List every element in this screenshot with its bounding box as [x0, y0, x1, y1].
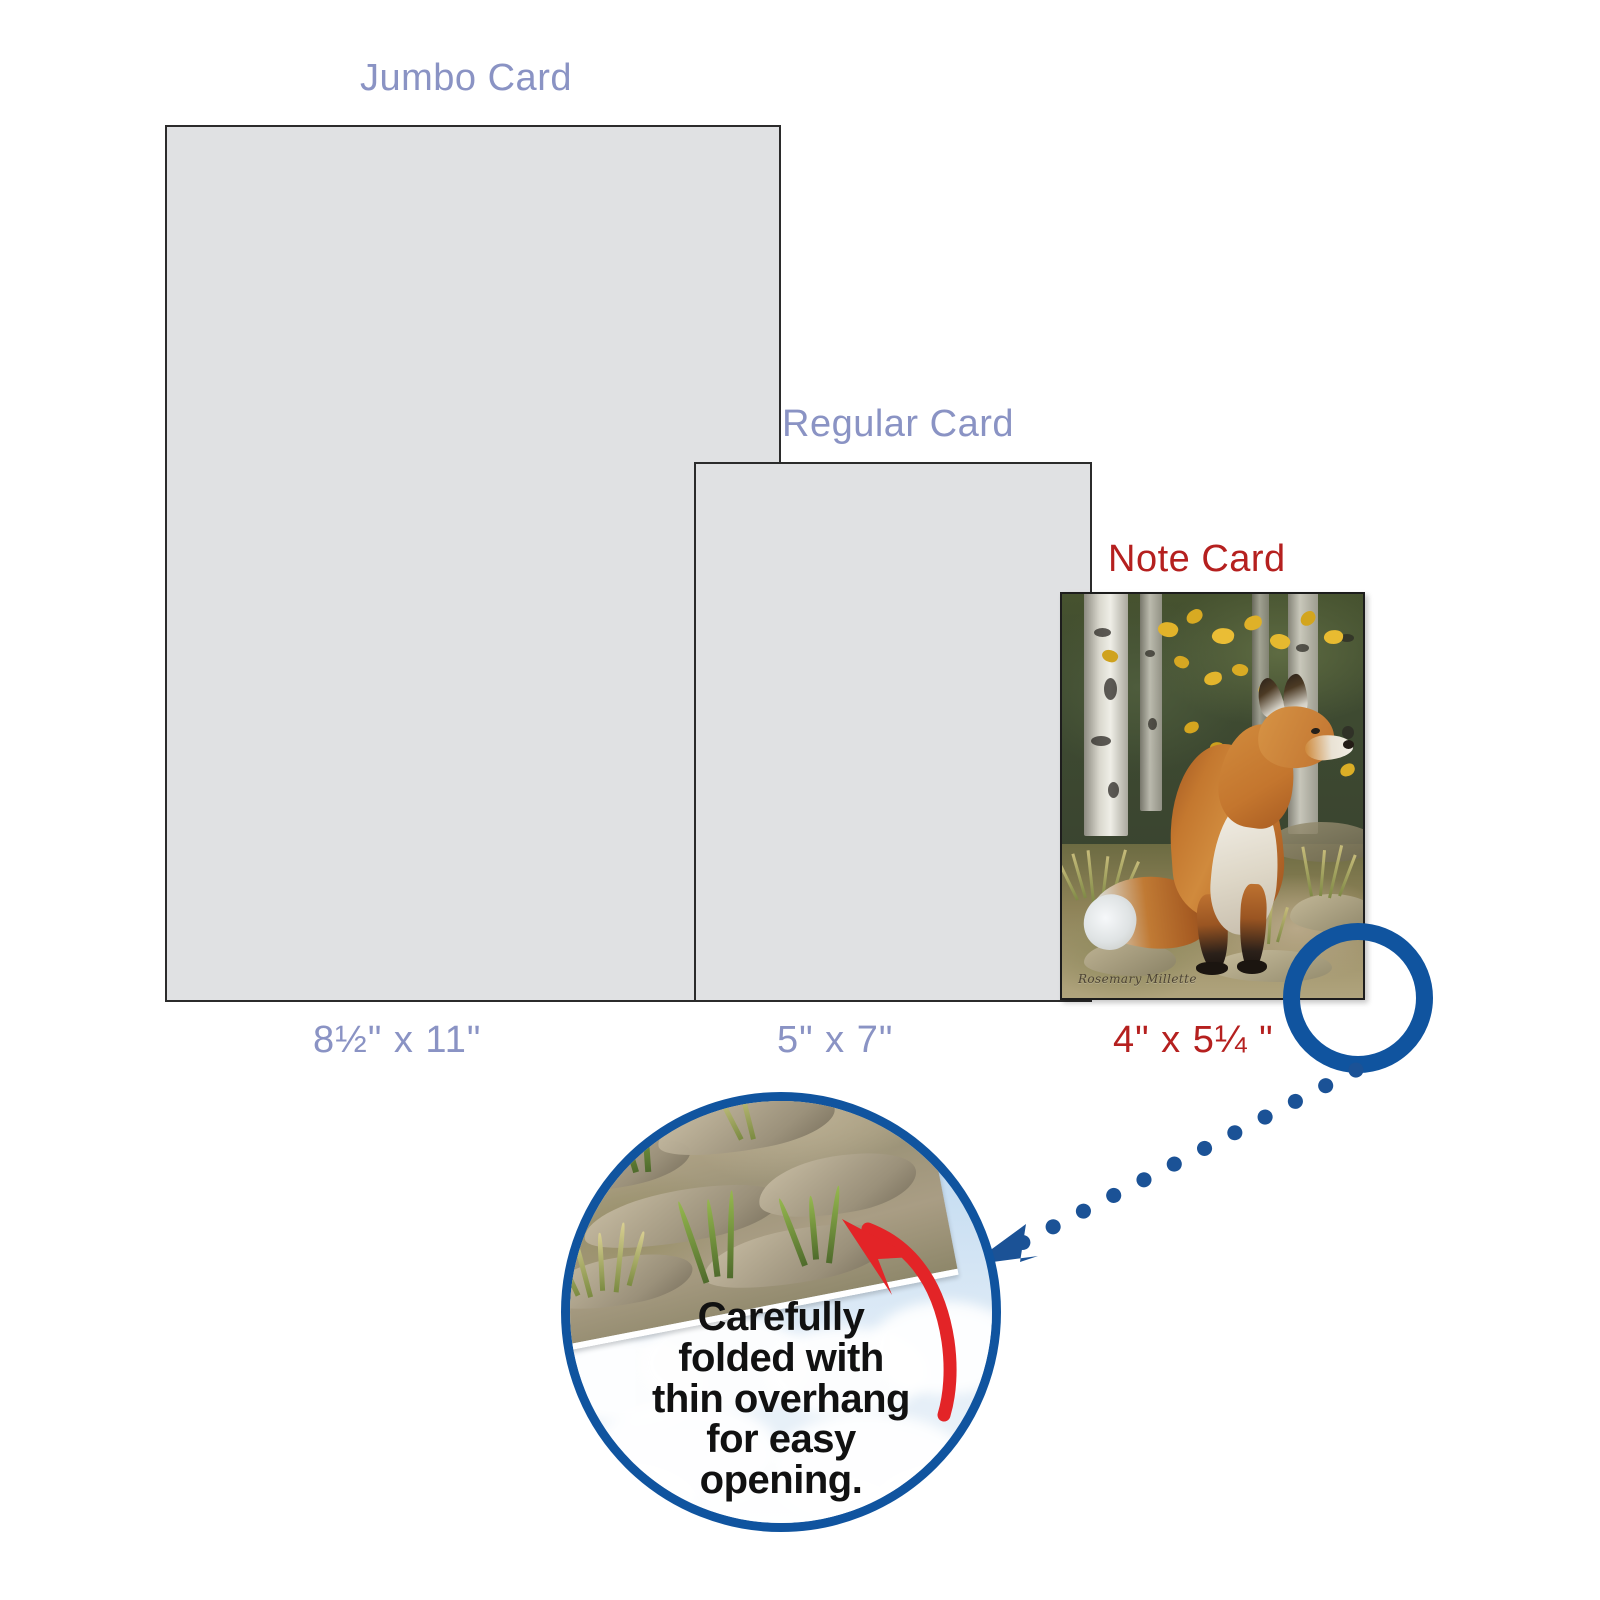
- magnifier-callout: Carefully folded with thin overhang for …: [561, 1092, 1001, 1532]
- callout-line-5: opening.: [598, 1460, 964, 1501]
- jumbo-card-title: Jumbo Card: [360, 57, 572, 100]
- fox-paw: [1237, 960, 1267, 974]
- artist-signature: Rosemary Millette: [1078, 972, 1197, 986]
- callout-line-1: Carefully: [598, 1297, 964, 1338]
- jumbo-card-placeholder: [165, 125, 781, 1002]
- birch-trunk: [1084, 594, 1128, 836]
- callout-line-2: folded with: [598, 1338, 964, 1379]
- note-card-title: Note Card: [1108, 538, 1286, 581]
- regular-card-placeholder: [694, 462, 1092, 1002]
- regular-card-dimensions: 5" x 7": [777, 1019, 893, 1062]
- regular-card-title: Regular Card: [782, 403, 1014, 446]
- fox-nose: [1343, 740, 1354, 749]
- dotted-line: [1018, 1070, 1356, 1245]
- callout-line-4: for easy: [598, 1419, 964, 1460]
- magnifier-connector-line: [960, 1040, 1380, 1280]
- callout-text-block: Carefully folded with thin overhang for …: [570, 1297, 992, 1501]
- fox-paw: [1196, 962, 1228, 975]
- jumbo-card-dimensions: 8½" x 11": [313, 1019, 481, 1062]
- callout-line-3: thin overhang: [598, 1379, 964, 1420]
